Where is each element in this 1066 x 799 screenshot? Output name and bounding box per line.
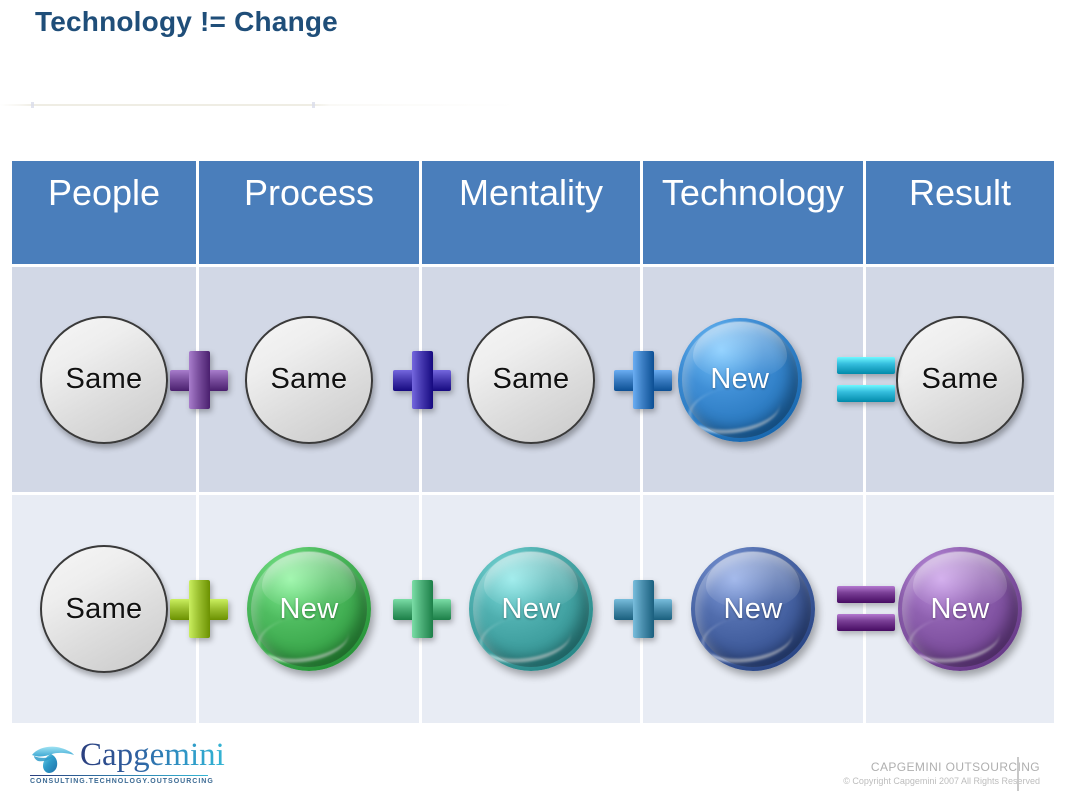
capgemini-wordmark: Capgemini [80, 739, 225, 772]
equals-bar-top [837, 586, 895, 603]
comparison-matrix: People Process Mentality Technology Resu… [12, 161, 1054, 723]
circle-label: Same [493, 365, 570, 394]
plus-bar-vertical [633, 351, 654, 409]
same-state-circle: Same [40, 316, 168, 444]
matrix-header-cell-technology: Technology [643, 161, 866, 264]
circle-label: New [502, 595, 561, 624]
new-state-circle: New [691, 547, 815, 671]
same-state-circle: Same [245, 316, 373, 444]
circle-label: Same [922, 365, 999, 394]
plus-bar-vertical [412, 580, 433, 638]
same-state-circle: Same [40, 545, 168, 673]
title-divider-cap-left [31, 102, 34, 108]
matrix-header-row: People Process Mentality Technology Resu… [12, 161, 1054, 264]
plus-operator-icon [393, 580, 451, 638]
matrix-header-cell-result: Result [866, 161, 1054, 264]
footer-attribution: CAPGEMINI OUTSOURCING © Copyright Capgem… [800, 760, 1040, 787]
circle-label: New [710, 365, 769, 394]
new-state-circle: New [247, 547, 371, 671]
plus-operator-icon [614, 580, 672, 638]
new-state-circle: New [678, 318, 802, 442]
circle-label: Same [271, 365, 348, 394]
footer-copyright: © Copyright Capgemini 2007 All Rights Re… [800, 775, 1040, 787]
matrix-cell: Same [12, 267, 199, 492]
matrix-cell: New [199, 495, 422, 723]
plus-bar-vertical [189, 580, 210, 638]
plus-operator-icon [393, 351, 451, 409]
new-state-circle: New [898, 547, 1022, 671]
capgemini-swoosh-icon [28, 744, 76, 779]
matrix-header-cell-mentality: Mentality [422, 161, 643, 264]
plus-bar-vertical [189, 351, 210, 409]
footer-divider [1017, 757, 1019, 791]
column-header-label: People [48, 171, 160, 215]
new-state-circle: New [469, 547, 593, 671]
capgemini-logo-underline [30, 775, 208, 776]
capgemini-tagline: CONSULTING.TECHNOLOGY.OUTSOURCING [30, 778, 214, 785]
plus-operator-icon [170, 351, 228, 409]
column-header-label: Mentality [459, 171, 603, 215]
matrix-cell: Same [422, 267, 643, 492]
footer-org-name: CAPGEMINI OUTSOURCING [800, 760, 1040, 775]
matrix-cell: New [643, 267, 866, 492]
same-state-circle: Same [467, 316, 595, 444]
plus-bar-vertical [633, 580, 654, 638]
title-divider-rule [0, 104, 1066, 106]
plus-operator-icon [170, 580, 228, 638]
circle-label: Same [66, 595, 143, 624]
matrix-cell: Same [199, 267, 422, 492]
equals-bar-top [837, 357, 895, 374]
circle-label: New [280, 595, 339, 624]
matrix-row: SameSameSameNewSame [12, 267, 1054, 492]
equals-bar-bot [837, 614, 895, 631]
matrix-row: SameNewNewNewNew [12, 495, 1054, 723]
matrix-header-cell-people: People [12, 161, 199, 264]
equals-operator-icon [837, 357, 895, 403]
matrix-cell: New [643, 495, 866, 723]
circle-label: New [931, 595, 990, 624]
same-state-circle: Same [896, 316, 1024, 444]
column-header-label: Process [244, 171, 374, 215]
plus-operator-icon [614, 351, 672, 409]
circle-label: New [724, 595, 783, 624]
matrix-cell: New [422, 495, 643, 723]
equals-operator-icon [837, 586, 895, 632]
page-title: Technology != Change [35, 6, 338, 38]
matrix-header-cell-process: Process [199, 161, 422, 264]
circle-label: Same [66, 365, 143, 394]
plus-bar-vertical [412, 351, 433, 409]
capgemini-logo: Capgemini CONSULTING.TECHNOLOGY.OUTSOURC… [28, 741, 208, 789]
column-header-label: Result [909, 171, 1011, 215]
matrix-cell: Same [12, 495, 199, 723]
equals-bar-bot [837, 385, 895, 402]
column-header-label: Technology [662, 171, 844, 215]
title-divider-cap-right [312, 102, 315, 108]
